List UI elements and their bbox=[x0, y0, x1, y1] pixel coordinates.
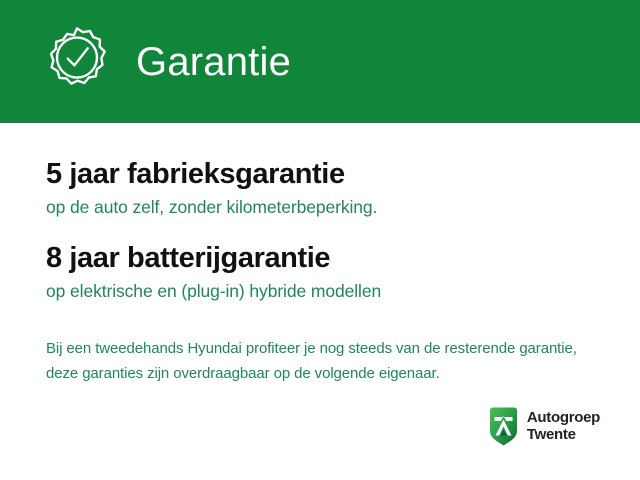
warranty-subtext: op de auto zelf, zonder kilometerbeperki… bbox=[46, 196, 594, 219]
warranty-block-factory: 5 jaar fabrieksgarantie op de auto zelf,… bbox=[46, 123, 594, 219]
warranty-heading: 5 jaar fabrieksgarantie bbox=[46, 157, 594, 191]
warranty-info-card: Garantie 5 jaar fabrieksgarantie op de a… bbox=[0, 0, 640, 480]
verified-badge-icon bbox=[40, 25, 114, 99]
warranty-block-battery: 8 jaar batterijgarantie op elektrische e… bbox=[46, 219, 594, 303]
warranty-transfer-note: Bij een tweedehands Hyundai profiteer je… bbox=[46, 303, 594, 387]
warranty-heading: 8 jaar batterijgarantie bbox=[46, 241, 594, 275]
warranty-subtext: op elektrische en (plug-in) hybride mode… bbox=[46, 280, 594, 303]
content-area: 5 jaar fabrieksgarantie op de auto zelf,… bbox=[0, 123, 640, 480]
page-title: Garantie bbox=[136, 42, 291, 82]
brand-wordmark-line1: Autogroep bbox=[527, 410, 600, 427]
brand-wordmark: Autogroep Twente bbox=[527, 410, 600, 444]
brand-wordmark-line2: Twente bbox=[527, 427, 600, 444]
shield-a-logo-icon bbox=[487, 407, 520, 446]
page-header: Garantie bbox=[0, 0, 640, 123]
brand-logo: Autogroep Twente bbox=[487, 407, 600, 446]
